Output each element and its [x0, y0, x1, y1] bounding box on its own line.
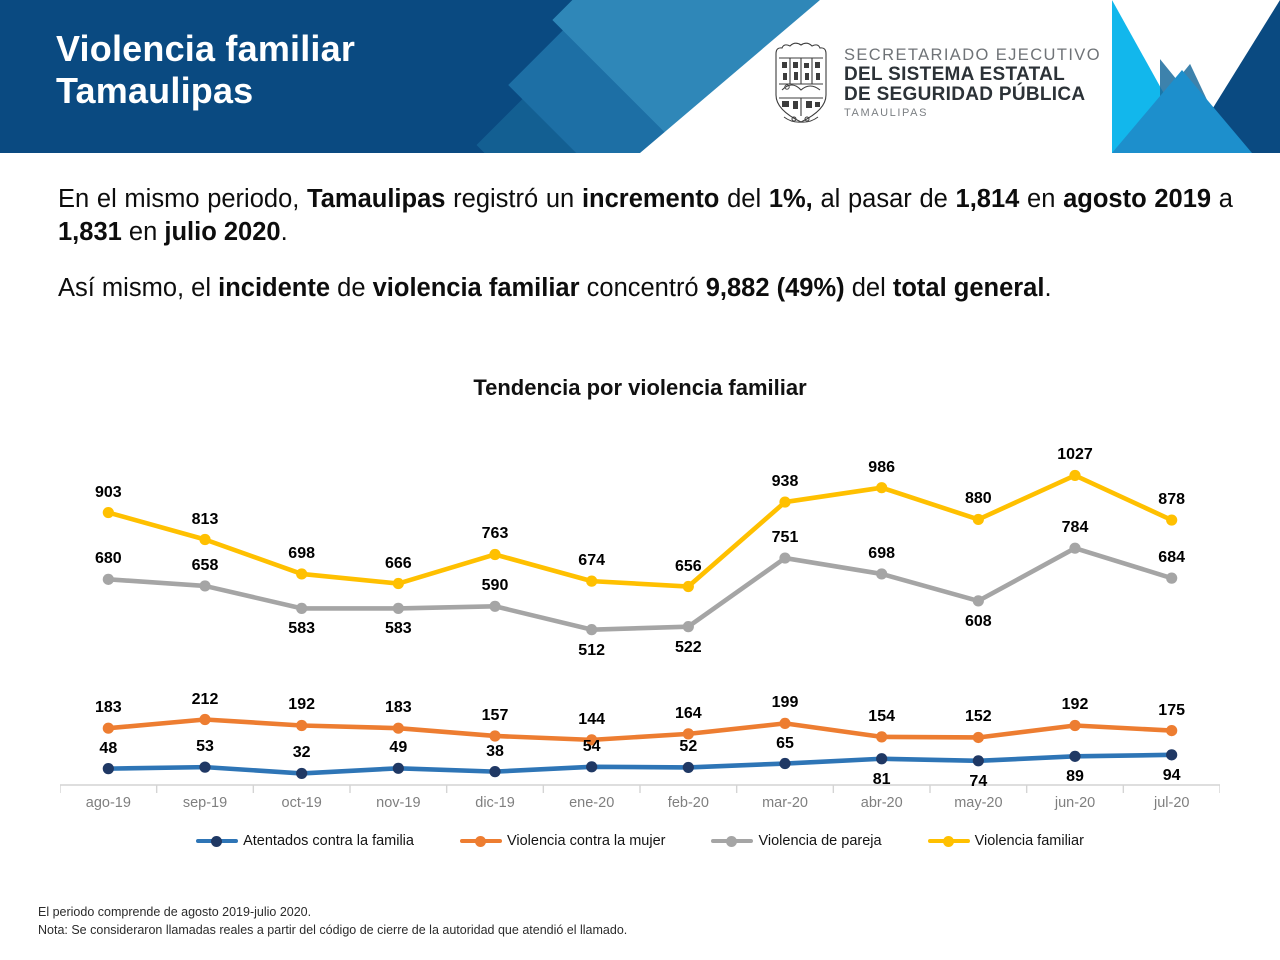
- series-point: [876, 568, 887, 579]
- data-label: 684: [1158, 549, 1185, 567]
- data-label: 65: [776, 735, 794, 753]
- series-point: [103, 507, 114, 518]
- data-label: 183: [95, 699, 122, 717]
- logo-line-4: TAMAULIPAS: [844, 108, 1101, 119]
- series-point: [1069, 720, 1080, 731]
- data-label: 522: [675, 639, 702, 657]
- logo-line-2: DEL SISTEMA ESTATAL: [844, 65, 1101, 84]
- line-chart-plot-area: 4853324938545265817489941832121921831571…: [60, 420, 1220, 820]
- series-point: [586, 761, 597, 772]
- legend-label: Violencia familiar: [975, 833, 1084, 849]
- page-title-line1: Violencia familiar: [56, 28, 355, 70]
- x-axis-label-mar-20: mar-20: [737, 795, 834, 825]
- data-label: 512: [578, 642, 605, 660]
- data-label: 144: [578, 711, 605, 729]
- data-label: 183: [385, 699, 412, 717]
- series-point: [683, 621, 694, 632]
- legend-item-3[interactable]: Violencia familiar: [928, 833, 1084, 849]
- data-label: 192: [288, 696, 315, 714]
- legend-item-2[interactable]: Violencia de pareja: [711, 833, 881, 849]
- x-axis-label-feb-20: feb-20: [640, 795, 737, 825]
- series-line-1: [108, 720, 1171, 740]
- chart-legend: Atentados contra la familiaViolencia con…: [0, 833, 1280, 849]
- logo-text-block: SECRETARIADO EJECUTIVO DEL SISTEMA ESTAT…: [844, 47, 1101, 119]
- data-label: 698: [288, 545, 315, 563]
- series-point: [586, 576, 597, 587]
- data-label: 674: [578, 552, 605, 570]
- data-label: 53: [196, 738, 214, 756]
- data-label: 658: [192, 557, 219, 575]
- legend-marker-icon: [928, 835, 970, 847]
- data-label: 986: [868, 459, 895, 477]
- data-label: 878: [1158, 491, 1185, 509]
- series-point: [296, 603, 307, 614]
- data-label: 175: [1158, 702, 1185, 720]
- data-label: 813: [192, 511, 219, 529]
- data-label: 89: [1066, 768, 1084, 786]
- legend-marker-icon: [711, 835, 753, 847]
- x-axis-label-jul-20: jul-20: [1123, 795, 1220, 825]
- legend-marker-icon: [460, 835, 502, 847]
- series-point: [683, 762, 694, 773]
- series-point: [199, 580, 210, 591]
- data-label: 608: [965, 613, 992, 631]
- series-point: [1166, 573, 1177, 584]
- data-label: 164: [675, 705, 702, 723]
- series-point: [683, 581, 694, 592]
- series-point: [199, 762, 210, 773]
- footnote-note: Nota: Se consideraron llamadas reales a …: [38, 923, 627, 937]
- x-axis-label-sep-19: sep-19: [157, 795, 254, 825]
- data-label: 48: [99, 740, 117, 758]
- data-label: 583: [288, 620, 315, 638]
- header-banner: Violencia familiar Tamaulipas: [0, 0, 1280, 153]
- series-point: [1069, 543, 1080, 554]
- logo-line-3: DE SEGURIDAD PÚBLICA: [844, 85, 1101, 104]
- data-label: 763: [482, 525, 509, 543]
- series-point: [1166, 749, 1177, 760]
- x-axis-label-may-20: may-20: [930, 795, 1027, 825]
- data-label: 38: [486, 743, 504, 761]
- x-axis-label-nov-19: nov-19: [350, 795, 447, 825]
- legend-label: Violencia contra la mujer: [507, 833, 666, 849]
- logo-line-1: SECRETARIADO EJECUTIVO: [844, 47, 1101, 64]
- series-point: [489, 766, 500, 777]
- legend-marker-icon: [196, 835, 238, 847]
- coat-of-arms-icon: [770, 40, 832, 126]
- series-point: [586, 624, 597, 635]
- legend-label: Atentados contra la familia: [243, 833, 414, 849]
- series-line-3: [108, 475, 1171, 586]
- page-title-line2: Tamaulipas: [56, 70, 355, 112]
- data-label: 938: [772, 473, 799, 491]
- footnote-period: El periodo comprende de agosto 2019-juli…: [38, 905, 311, 919]
- data-label: 54: [583, 738, 601, 756]
- x-axis-label-ene-20: ene-20: [543, 795, 640, 825]
- legend-label: Violencia de pareja: [758, 833, 881, 849]
- series-point: [103, 723, 114, 734]
- data-label: 880: [965, 490, 992, 508]
- data-label: 192: [1062, 696, 1089, 714]
- series-point: [876, 753, 887, 764]
- data-label: 94: [1163, 767, 1181, 785]
- data-label: 52: [679, 738, 697, 756]
- data-label: 212: [192, 691, 219, 709]
- series-point: [779, 718, 790, 729]
- series-line-0: [108, 755, 1171, 774]
- data-label: 666: [385, 555, 412, 573]
- data-label: 583: [385, 620, 412, 638]
- data-label: 784: [1062, 519, 1089, 537]
- data-label: 590: [482, 577, 509, 595]
- series-point: [393, 723, 404, 734]
- x-axis-label-oct-19: oct-19: [253, 795, 350, 825]
- series-point: [393, 603, 404, 614]
- series-point: [779, 496, 790, 507]
- series-point: [1069, 470, 1080, 481]
- organization-logo: SECRETARIADO EJECUTIVO DEL SISTEMA ESTAT…: [770, 40, 1101, 126]
- x-axis-label-jun-20: jun-20: [1027, 795, 1124, 825]
- legend-item-0[interactable]: Atentados contra la familia: [196, 833, 414, 849]
- series-point: [199, 714, 210, 725]
- data-label: 157: [482, 707, 509, 725]
- legend-item-1[interactable]: Violencia contra la mujer: [460, 833, 666, 849]
- data-label: 751: [772, 529, 799, 547]
- series-point: [1166, 725, 1177, 736]
- series-point: [876, 482, 887, 493]
- data-label: 154: [868, 708, 895, 726]
- x-axis-label-dic-19: dic-19: [447, 795, 544, 825]
- summary-paragraph-1: En el mismo periodo, Tamaulipas registró…: [58, 183, 1233, 249]
- data-label: 698: [868, 545, 895, 563]
- data-label: 74: [969, 773, 987, 791]
- series-point: [103, 574, 114, 585]
- series-point: [779, 758, 790, 769]
- data-label: 49: [389, 739, 407, 757]
- data-label: 656: [675, 558, 702, 576]
- series-point: [296, 720, 307, 731]
- series-point: [199, 534, 210, 545]
- chart-title: Tendencia por violencia familiar: [0, 375, 1280, 401]
- series-point: [103, 763, 114, 774]
- data-label: 903: [95, 484, 122, 502]
- summary-paragraph-2: Así mismo, el incidente de violencia fam…: [58, 272, 1233, 305]
- series-point: [393, 578, 404, 589]
- series-point: [973, 514, 984, 525]
- series-point: [779, 552, 790, 563]
- data-label: 81: [873, 771, 891, 789]
- data-label: 152: [965, 708, 992, 726]
- chart-svg: [60, 420, 1220, 820]
- series-point: [973, 755, 984, 766]
- data-label: 680: [95, 550, 122, 568]
- series-point: [393, 763, 404, 774]
- series-point: [1069, 751, 1080, 762]
- series-point: [973, 732, 984, 743]
- series-point: [296, 768, 307, 779]
- series-point: [973, 595, 984, 606]
- data-label: 32: [293, 744, 311, 762]
- series-point: [489, 549, 500, 560]
- x-axis-label-abr-20: abr-20: [833, 795, 930, 825]
- series-point: [489, 730, 500, 741]
- series-point: [876, 731, 887, 742]
- data-label: 199: [772, 694, 799, 712]
- data-label: 1027: [1057, 446, 1093, 464]
- series-point: [489, 601, 500, 612]
- series-point: [1166, 514, 1177, 525]
- page-title: Violencia familiar Tamaulipas: [56, 28, 355, 112]
- x-axis-label-ago-19: ago-19: [60, 795, 157, 825]
- series-point: [296, 568, 307, 579]
- x-axis-labels: ago-19sep-19oct-19nov-19dic-19ene-20feb-…: [60, 795, 1220, 825]
